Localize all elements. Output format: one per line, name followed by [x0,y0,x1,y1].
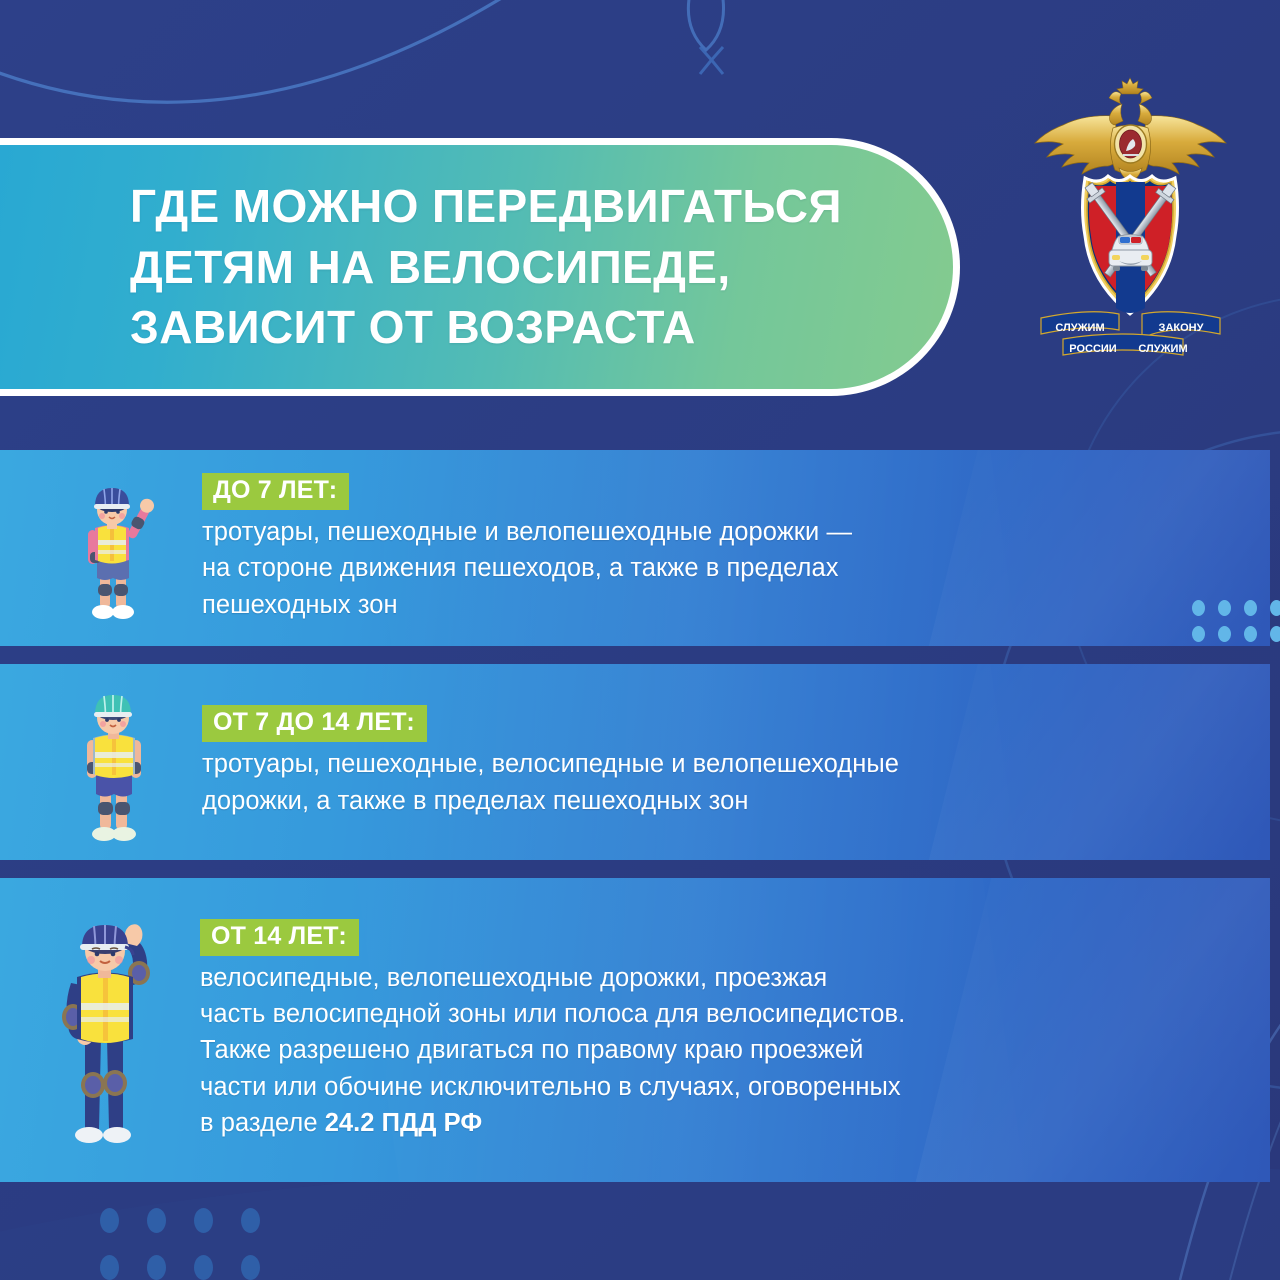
info-panel-over-14: ОТ 14 ЛЕТ: велосипедные, велопешеходные … [0,878,1270,1182]
child-cyclist-small-illustration [22,468,202,628]
eye-left [95,952,100,957]
mvd-emblem: СЛУЖИМ ЗАКОНУ РОССИИ СЛУЖИМ [1023,68,1238,373]
shoe-left [75,1127,103,1143]
panel-2-description: тротуары, пешеходные, велосипедные и вел… [202,746,1240,818]
motto-word-rossii: РОССИИ [1069,343,1117,355]
eye-right [111,952,116,957]
vest-reflective-stripe [98,540,126,545]
vest-reflective-stripe [95,752,133,758]
child-cyclist-medium-illustration [22,676,202,848]
title-banner: ГДЕ МОЖНО ПЕРЕДВИГАТЬСЯ ДЕТЯМ НА ВЕЛОСИП… [0,138,960,396]
panel-1-content: ДО 7 ЛЕТ: тротуары, пешеходные и велопеш… [202,473,1270,623]
shoe-left [92,605,114,619]
knee-pad-left [98,584,112,596]
helmet-strap [80,944,129,950]
double-headed-eagle-icon [1035,78,1226,182]
mvd-emblem-graphic: СЛУЖИМ ЗАКОНУ РОССИИ СЛУЖИМ [1023,68,1238,373]
pdd-reference: 24.2 ПДД РФ [325,1109,482,1137]
helmet-strap [94,712,132,717]
shoe-right [103,1127,131,1143]
motto-word-sluzhim-right: СЛУЖИМ [1138,343,1187,355]
knee-pad-left [98,802,113,815]
panel-2-content: ОТ 7 ДО 14 ЛЕТ: тротуары, пешеходные, ве… [202,705,1270,818]
eye-left [104,510,108,514]
knee-pad-right [115,802,130,815]
page-title: ГДЕ МОЖНО ПЕРЕДВИГАТЬСЯ ДЕТЯМ НА ВЕЛОСИП… [130,176,842,358]
panel-3-content: ОТ 14 ЛЕТ: велосипедные, велопешеходные … [200,919,1270,1141]
panel-3-description: велосипедные, велопешеходные дорожки, пр… [200,960,1240,1141]
eye-right [117,718,121,722]
motto-ribbon: СЛУЖИМ ЗАКОНУ РОССИИ СЛУЖИМ [1041,312,1220,355]
vest-reflective-stripe [81,1003,129,1010]
police-car-icon [1109,235,1152,272]
motto-word-sluzhim-left: СЛУЖИМ [1055,322,1104,334]
helmet-strap [94,504,130,509]
info-panel-7-to-14: ОТ 7 ДО 14 ЛЕТ: тротуары, пешеходные, ве… [0,664,1270,860]
shoe-right [112,605,134,619]
motto-word-zakonu: ЗАКОНУ [1159,322,1204,334]
age-badge-over-14: ОТ 14 ЛЕТ: [200,919,359,956]
knee-pad-right [114,584,128,596]
age-badge-under-7: ДО 7 ЛЕТ: [202,473,349,510]
teen-cyclist-large-illustration [10,905,200,1155]
panel-3-description-text: велосипедные, велопешеходные дорожки, пр… [200,964,905,1137]
eye-left [105,718,109,722]
info-panel-under-7: ДО 7 ЛЕТ: тротуары, пешеходные и велопеш… [0,450,1270,646]
eye-right [116,510,120,514]
shoe-right [112,827,136,841]
age-badge-7-to-14: ОТ 7 ДО 14 ЛЕТ: [202,705,427,742]
panel-1-description: тротуары, пешеходные и велопешеходные до… [202,514,1240,623]
